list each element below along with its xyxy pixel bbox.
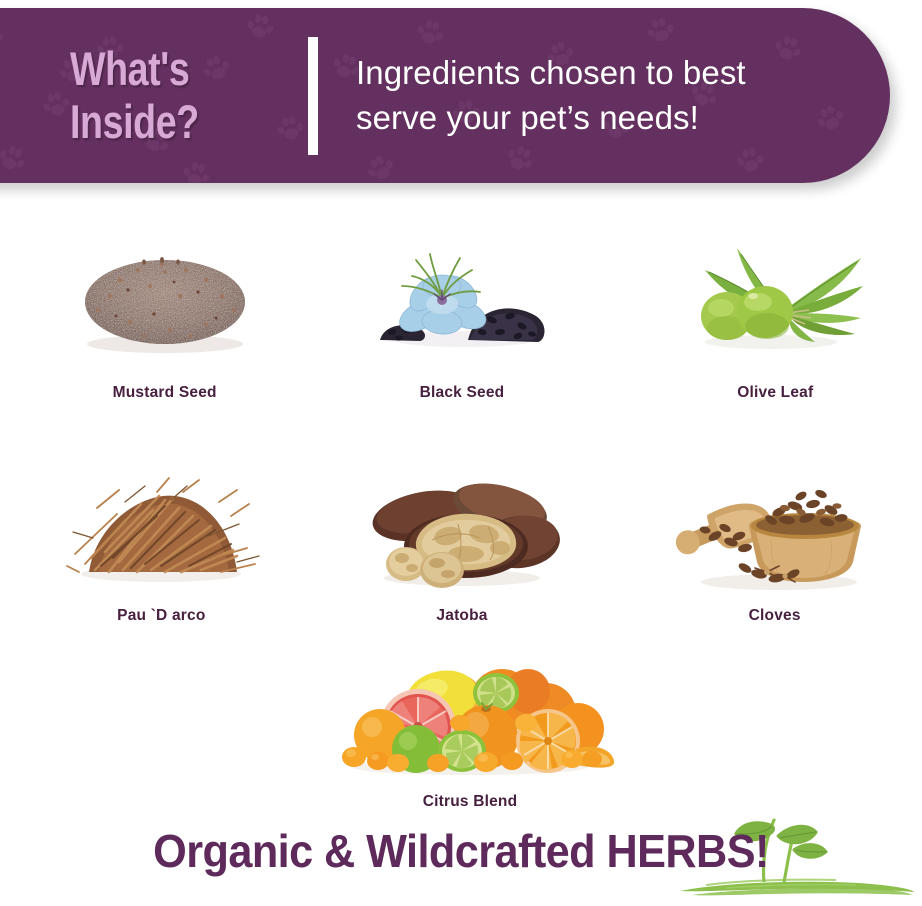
ingredient-cell-citrus-blend: Citrus Blend (282, 651, 640, 811)
footer: Organic & Wildcrafted HERBS! (0, 818, 922, 906)
ingredient-label: Black Seed (420, 384, 505, 402)
ingredient-cell-mustard-seed: Mustard Seed (0, 222, 311, 402)
ingredient-label: Cloves (749, 607, 801, 625)
citrus-fruit-pile-image (300, 657, 640, 777)
footer-title: Organic & Wildcrafted HERBS! (28, 824, 895, 878)
banner-heading: What's Inside? (70, 43, 310, 148)
black-seed-nigella-flower-image (315, 224, 608, 364)
jatoba-pods-image (315, 448, 610, 593)
header-banner: What's Inside? Ingredients chosen to bes… (0, 8, 890, 183)
ingredient-cell-cloves: Cloves (609, 440, 922, 625)
banner-tagline: Ingredients chosen to best serve your pe… (356, 51, 746, 140)
ingredient-row: Mustard Seed (0, 222, 922, 402)
cloves-art (675, 450, 875, 595)
pau-darco-bark-image (14, 446, 309, 591)
ingredient-label: Jatoba (436, 607, 487, 625)
ingredient-cell-olive-leaf: Olive Leaf (609, 222, 922, 402)
mustard-seed-pile-image (18, 226, 311, 366)
ingredient-cell-pau-darco: Pau `D arco (0, 440, 309, 625)
ingredient-cell-black-seed: Black Seed (311, 222, 608, 402)
citrus-art (320, 657, 620, 777)
ingredient-row: Citrus Blend (0, 651, 922, 811)
jatoba-art (362, 448, 562, 593)
pau-darco-art (61, 446, 261, 591)
ingredient-label: Citrus Blend (423, 793, 518, 811)
black-seed-art (372, 224, 552, 364)
mustard-seed-art (70, 226, 260, 366)
ingredient-row: Pau `D arco (0, 440, 922, 625)
ingredient-label: Olive Leaf (737, 384, 813, 402)
olive-leaf-art (685, 230, 865, 370)
ingredient-cell-jatoba: Jatoba (309, 440, 610, 625)
olive-leaf-olives-image (629, 230, 922, 370)
ingredients-grid: Mustard Seed (0, 222, 922, 811)
ingredient-label: Mustard Seed (113, 384, 217, 402)
ingredient-label: Pau `D arco (117, 607, 205, 625)
cloves-wooden-bowl-image (627, 450, 922, 595)
